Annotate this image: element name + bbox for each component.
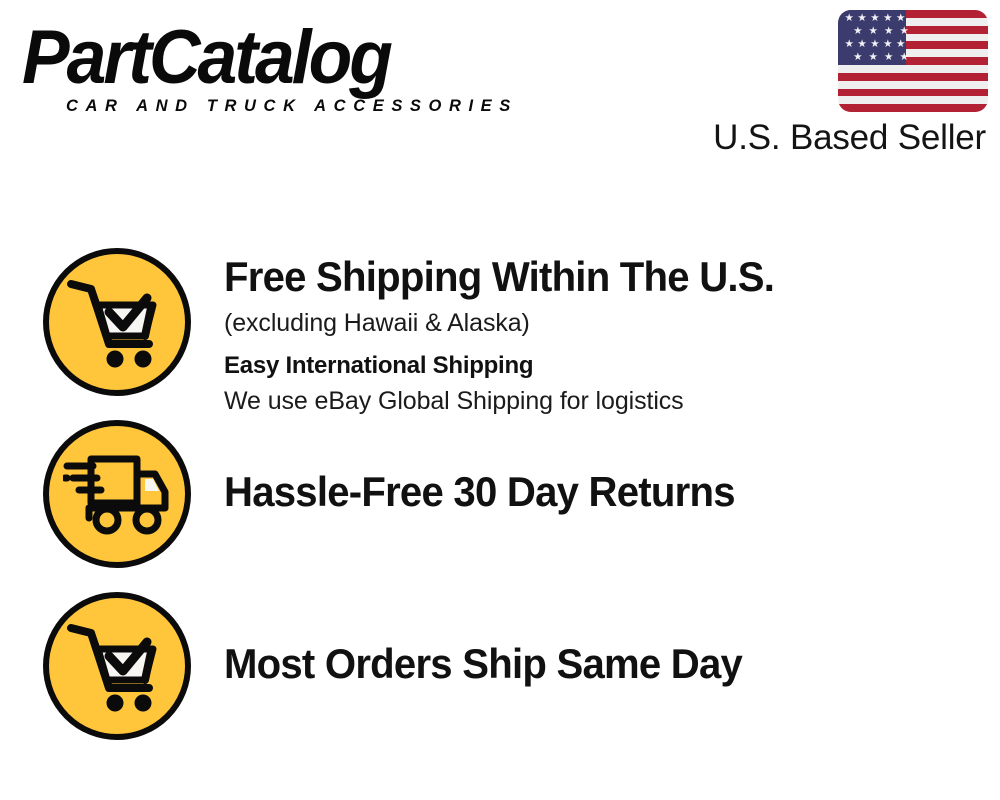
feature-headline: Free Shipping Within The U.S.	[224, 252, 950, 302]
flag-stripe	[838, 104, 988, 112]
feature-row-same-day: Most Orders Ship Same Day	[43, 592, 983, 740]
flag-star: ★	[896, 13, 905, 24]
us-flag-icon: ★ ★ ★ ★ ★ ★ ★ ★ ★ ★ ★ ★ ★ ★	[838, 10, 988, 112]
flag-star: ★	[883, 13, 892, 24]
us-based-seller-label: U.S. Based Seller	[713, 116, 986, 160]
flag-star: ★	[869, 52, 878, 63]
flag-star: ★	[900, 26, 909, 37]
delivery-truck-icon	[43, 420, 191, 568]
flag-star: ★	[870, 13, 879, 24]
flag-star: ★	[853, 52, 862, 63]
flag-star: ★	[857, 39, 866, 50]
flag-star: ★	[870, 39, 879, 50]
flag-star: ★	[883, 39, 892, 50]
flag-canton: ★ ★ ★ ★ ★ ★ ★ ★ ★ ★ ★ ★ ★ ★	[838, 10, 906, 65]
feature-row-returns: Hassle-Free 30 Day Returns	[43, 420, 983, 568]
banner-header: PartCatalog CAR AND TRUCK ACCESSORIES ★ …	[0, 0, 1000, 175]
flag-star: ★	[884, 52, 893, 63]
feature-headline: Most Orders Ship Same Day	[224, 639, 950, 689]
flag-stripe	[838, 89, 988, 97]
brand-logo: PartCatalog CAR AND TRUCK ACCESSORIES	[22, 14, 492, 114]
flag-star: ★	[869, 26, 878, 37]
feature-subtext: (excluding Hawaii & Alaska)	[224, 305, 984, 341]
feature-headline: Hassle-Free 30 Day Returns	[224, 467, 950, 517]
brand-logo-wordmark: PartCatalog	[22, 10, 390, 106]
shopping-cart-check-icon	[43, 592, 191, 740]
feature-row-free-shipping: Free Shipping Within The U.S. (excluding…	[43, 248, 983, 396]
flag-star: ★	[900, 52, 909, 63]
feature-text-block: Most Orders Ship Same Day	[224, 592, 984, 787]
flag-star: ★	[884, 26, 893, 37]
brand-logo-tagline: CAR AND TRUCK ACCESSORIES	[66, 96, 518, 116]
flag-star: ★	[844, 13, 853, 24]
feature-subtext-note: We use eBay Global Shipping for logistic…	[224, 384, 984, 418]
flag-star: ★	[857, 13, 866, 24]
feature-text-block: Hassle-Free 30 Day Returns	[224, 420, 984, 615]
feature-subtext-bold: Easy International Shipping	[224, 349, 984, 383]
flag-star: ★	[844, 39, 853, 50]
flag-star: ★	[896, 39, 905, 50]
shopping-cart-check-icon	[43, 248, 191, 396]
us-flag-graphic: ★ ★ ★ ★ ★ ★ ★ ★ ★ ★ ★ ★ ★ ★	[838, 10, 988, 112]
flag-stripe	[838, 73, 988, 81]
feature-text-block: Free Shipping Within The U.S. (excluding…	[224, 248, 984, 400]
flag-star: ★	[853, 26, 862, 37]
